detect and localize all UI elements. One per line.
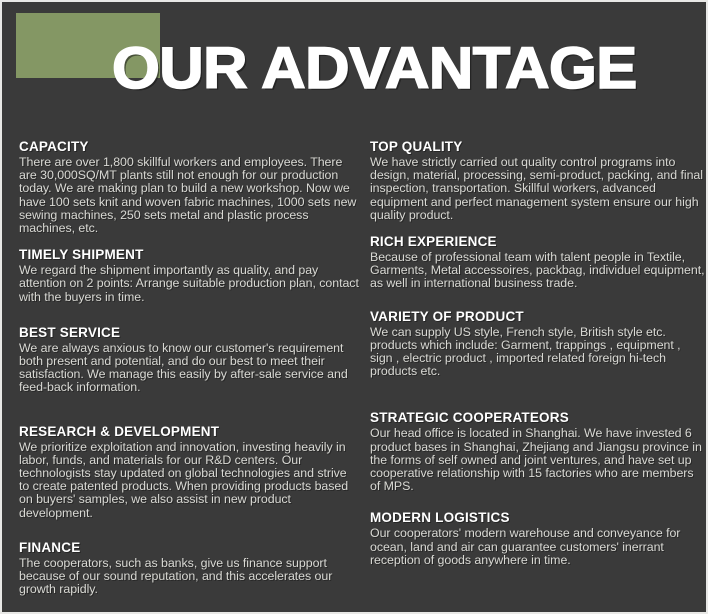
content-columns: CAPACITY There are over 1,800 skillful w…	[2, 122, 706, 612]
left-column: CAPACITY There are over 1,800 skillful w…	[2, 122, 360, 612]
section-rich-experience: RICH EXPERIENCE Because of professional …	[370, 234, 706, 291]
section-body-finance: The cooperators, such as banks, give us …	[19, 557, 360, 597]
section-body-strategic-cooperateors: Our head office is located in Shanghai. …	[370, 427, 706, 493]
section-top-quality: TOP QUALITY We have strictly carried out…	[370, 139, 706, 222]
section-title-best-service: BEST SERVICE	[19, 325, 360, 341]
poster-header: OUR ADVANTAGE	[2, 2, 706, 122]
section-research-development: RESEARCH & DEVELOPMENT We prioritize exp…	[19, 424, 360, 520]
section-title-top-quality: TOP QUALITY	[370, 139, 706, 155]
section-body-rich-experience: Because of professional team with talent…	[370, 251, 706, 291]
section-title-research-development: RESEARCH & DEVELOPMENT	[19, 424, 360, 440]
section-title-variety-of-product: VARIETY OF PRODUCT	[370, 309, 706, 325]
section-finance: FINANCE The cooperators, such as banks, …	[19, 540, 360, 597]
section-body-top-quality: We have strictly carried out quality con…	[370, 156, 706, 222]
section-body-timely-shipment: We regard the shipment importantly as qu…	[19, 264, 360, 304]
section-modern-logistics: MODERN LOGISTICS Our cooperators' modern…	[370, 510, 706, 567]
page-title: OUR ADVANTAGE	[112, 38, 637, 100]
section-title-strategic-cooperateors: STRATEGIC COOPERATEORS	[370, 410, 706, 426]
section-title-timely-shipment: TIMELY SHIPMENT	[19, 247, 360, 263]
section-body-modern-logistics: Our cooperators' modern warehouse and co…	[370, 527, 706, 567]
section-title-rich-experience: RICH EXPERIENCE	[370, 234, 706, 250]
section-best-service: BEST SERVICE We are always anxious to kn…	[19, 325, 360, 395]
section-capacity: CAPACITY There are over 1,800 skillful w…	[19, 139, 360, 235]
section-strategic-cooperateors: STRATEGIC COOPERATEORS Our head office i…	[370, 410, 706, 493]
section-timely-shipment: TIMELY SHIPMENT We regard the shipment i…	[19, 247, 360, 304]
advantage-poster: OUR ADVANTAGE CAPACITY There are over 1,…	[0, 0, 708, 614]
section-title-capacity: CAPACITY	[19, 139, 360, 155]
section-body-research-development: We prioritize exploitation and innovatio…	[19, 441, 360, 520]
section-body-capacity: There are over 1,800 skillful workers an…	[19, 156, 360, 235]
section-variety-of-product: VARIETY OF PRODUCT We can supply US styl…	[370, 309, 706, 379]
right-column: TOP QUALITY We have strictly carried out…	[360, 122, 706, 612]
section-body-variety-of-product: We can supply US style, French style, Br…	[370, 326, 706, 379]
section-title-modern-logistics: MODERN LOGISTICS	[370, 510, 706, 526]
section-title-finance: FINANCE	[19, 540, 360, 556]
section-body-best-service: We are always anxious to know our custom…	[19, 342, 360, 395]
